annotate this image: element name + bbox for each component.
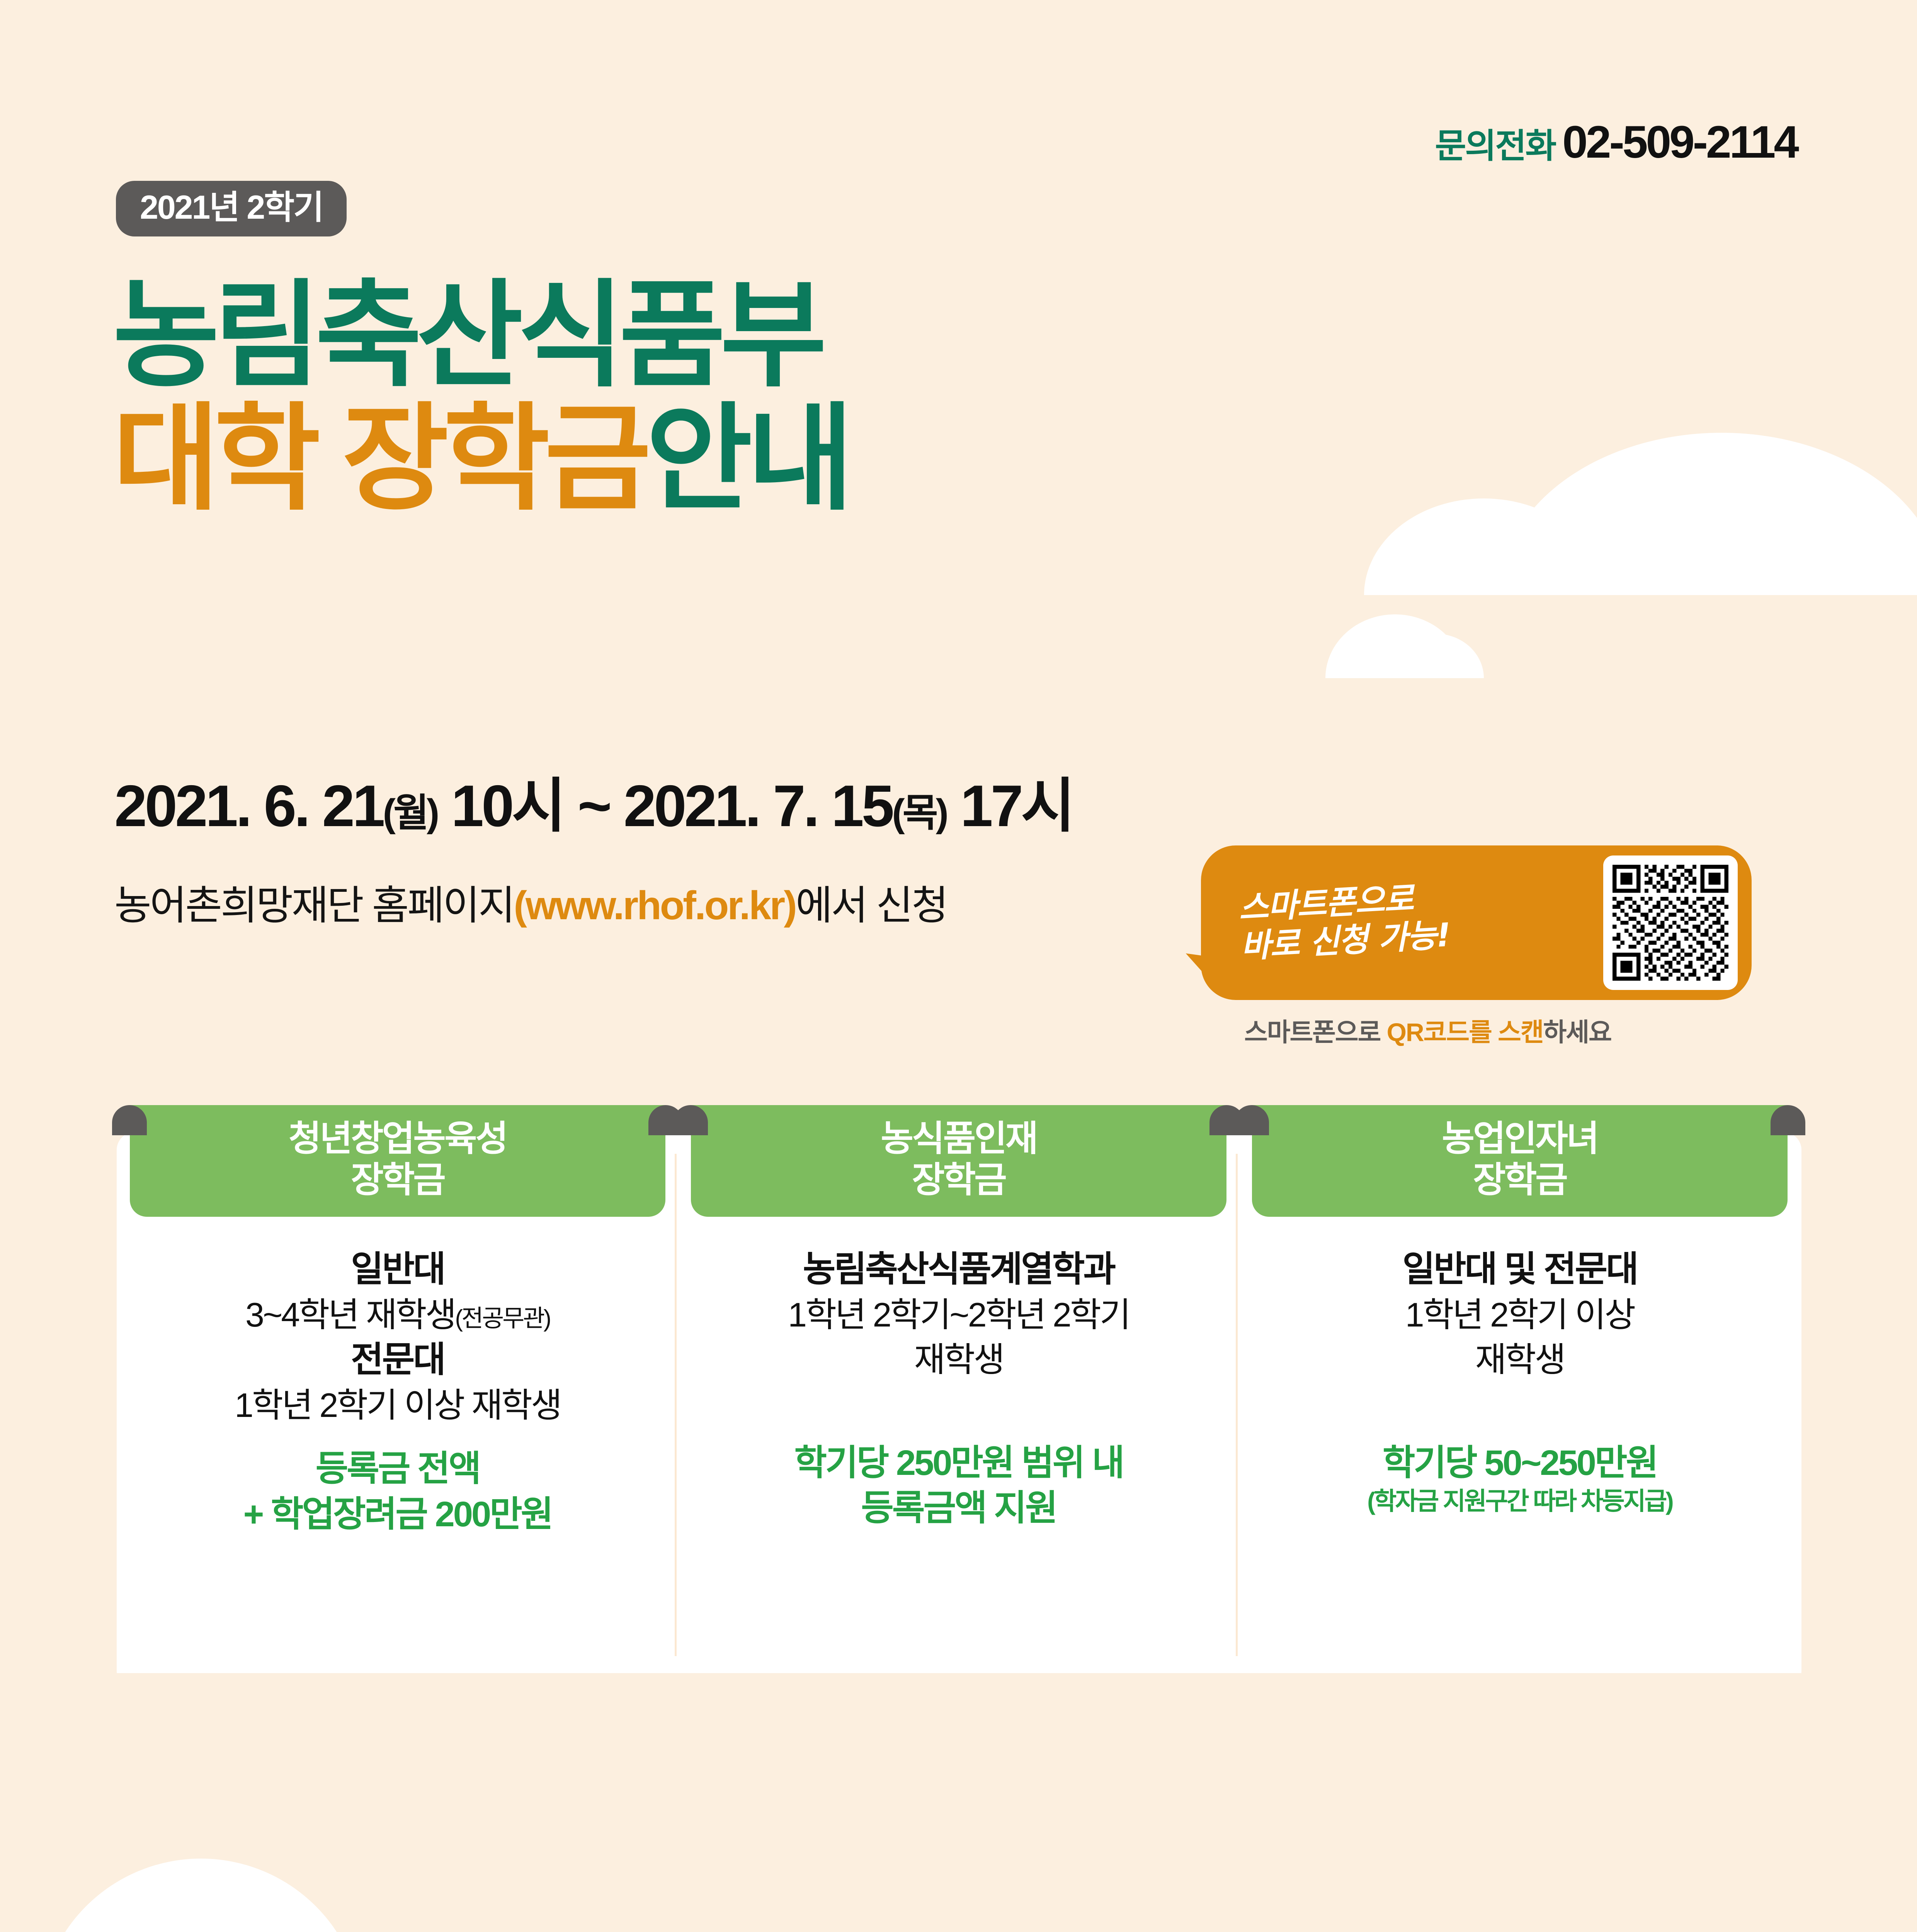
scholarship-1-amount-line-0: 등록금 전액 <box>130 1446 665 1492</box>
pin-icon <box>673 1105 708 1135</box>
period-end-date: 2021. 7. 15 <box>624 773 892 839</box>
scholarship-card-3[interactable]: 농업인자녀 장학금 일반대 및 전문대 1학년 2학기 이상 재학생 학기당 5… <box>1252 1132 1788 1689</box>
qr-section: 스마트폰으로 바로 신청 가능! <box>1201 845 1808 1000</box>
sun-shape <box>39 1859 363 1932</box>
scholarship-1-title-line-2: 장학금 <box>351 1160 444 1200</box>
scholarship-2-elig-0: 농림축산식품계열학과 <box>691 1247 1226 1293</box>
apply-site-url[interactable]: (www.rhof.or.kr) <box>514 883 796 928</box>
qr-speech-bubble: 스마트폰으로 바로 신청 가능! <box>1201 845 1752 1000</box>
scholarship-1-elig-2: 전문대 <box>130 1337 665 1383</box>
scholarship-2-elig-2: 재학생 <box>691 1337 1226 1382</box>
page-title: 농림축산식품부 대학 장학금안내 <box>113 278 848 516</box>
scholarship-card-2-body: 농림축산식품계열학과 1학년 2학기~2학년 2학기 재학생 학기당 250만원… <box>691 1217 1226 1531</box>
pin-icon <box>112 1105 147 1135</box>
apply-site-prefix: 농어촌희망재단 홈페이지 <box>114 883 514 928</box>
scholarship-3-elig-1: 1학년 2학기 이상 <box>1252 1293 1788 1337</box>
page-title-green: 안내 <box>646 394 848 524</box>
scholarship-3-elig-2: 재학생 <box>1252 1337 1788 1382</box>
scholarship-3-amount-note: (학자금 지원구간 따라 차등지급) <box>1252 1486 1788 1517</box>
qr-bubble-text: 스마트폰으로 바로 신청 가능! <box>1199 878 1451 968</box>
period-start-time: 10시 <box>451 773 564 839</box>
farm-illustration: 농림축산식품부 HOPE KRA와 함께하는 <box>0 1673 1917 1932</box>
pin-icon <box>1771 1105 1805 1135</box>
qr-code[interactable] <box>1603 855 1738 990</box>
illustration-svg <box>0 1673 1917 1932</box>
scholarship-2-title-line-2: 장학금 <box>912 1160 1005 1200</box>
scholarship-card-3-body: 일반대 및 전문대 1학년 2학기 이상 재학생 학기당 50~250만원 (학… <box>1252 1217 1788 1517</box>
scholarship-card-3-header: 농업인자녀 장학금 <box>1252 1105 1788 1217</box>
scholarship-1-elig-1: 3~4학년 재학생(전공무관) <box>130 1293 665 1337</box>
scholarship-2-title-line-1: 농식품인재 <box>881 1119 1036 1158</box>
period-end-time: 17시 <box>960 773 1073 839</box>
period-start-day: (월) <box>383 791 437 835</box>
qr-caption-post: 하세요 <box>1543 1018 1611 1046</box>
contact-phone: 문의전화 02-509-2114 <box>1435 116 1797 168</box>
scholarship-2-elig-1: 1학년 2학기~2학년 2학기 <box>691 1293 1226 1337</box>
qr-caption-highlight: QR코드를 스캔 <box>1387 1018 1543 1046</box>
period-start-date: 2021. 6. 21 <box>114 773 383 839</box>
scholarship-2-amount-line-0: 학기당 250만원 범위 내 <box>691 1440 1226 1486</box>
scholarship-3-elig-0: 일반대 및 전문대 <box>1252 1247 1788 1293</box>
semester-badge: 2021년 2학기 <box>116 181 347 236</box>
period-end-day: (목) <box>892 791 946 835</box>
scholarship-1-elig-0: 일반대 <box>130 1247 665 1293</box>
scholarship-1-amount: 등록금 전액 + 학업장려금 200만원 <box>130 1446 665 1537</box>
qr-caption-pre: 스마트폰으로 <box>1244 1018 1387 1046</box>
apply-site-suffix: 에서 신청 <box>796 883 947 928</box>
scholarship-3-amount-line-0: 학기당 50~250만원 <box>1252 1440 1788 1486</box>
pin-icon <box>1234 1105 1269 1135</box>
scholarship-card-2-header: 농식품인재 장학금 <box>691 1105 1226 1217</box>
scholarship-1-amount-line-1: + 학업장려금 200만원 <box>130 1492 665 1537</box>
application-period: 2021. 6. 21(월) 10시 ~ 2021. 7. 15(목) 17시 <box>114 758 1073 843</box>
card-divider-1 <box>675 1154 677 1656</box>
scholarship-1-elig-1-text: 3~4학년 재학생 <box>245 1296 455 1334</box>
contact-phone-number: 02-509-2114 <box>1562 116 1797 168</box>
period-separator: ~ <box>578 773 610 839</box>
qr-code-svg <box>1613 865 1728 981</box>
scholarship-card-2[interactable]: 농식품인재 장학금 농림축산식품계열학과 1학년 2학기~2학년 2학기 재학생… <box>691 1132 1226 1689</box>
scholarship-1-elig-3: 1학년 2학기 이상 재학생 <box>130 1383 665 1428</box>
scholarship-3-title-line-2: 장학금 <box>1473 1160 1567 1200</box>
scholarship-card-1[interactable]: 청년창업농육성 장학금 일반대 3~4학년 재학생(전공무관) 전문대 1학년 … <box>130 1132 665 1689</box>
scholarship-3-title-line-1: 농업인자녀 <box>1442 1119 1597 1158</box>
scholarship-1-title-line-1: 청년창업농육성 <box>289 1119 507 1158</box>
poster-root: 문의전화 02-509-2114 2021년 2학기 농림축산식품부 대학 장학… <box>0 0 1917 1932</box>
scholarship-card-panel: 청년창업농육성 장학금 일반대 3~4학년 재학생(전공무관) 전문대 1학년 … <box>117 1132 1801 1689</box>
scholarship-card-1-header: 청년창업농육성 장학금 <box>130 1105 665 1217</box>
contact-phone-label: 문의전화 <box>1435 119 1555 168</box>
scholarship-card-1-body: 일반대 3~4학년 재학생(전공무관) 전문대 1학년 2학기 이상 재학생 등… <box>130 1217 665 1537</box>
page-title-orange: 대학 장학금 <box>113 394 646 524</box>
page-title-line-1: 농림축산식품부 <box>113 278 848 393</box>
scholarship-2-amount-line-1: 등록금액 지원 <box>691 1486 1226 1531</box>
page-title-line-2: 대학 장학금안내 <box>113 401 848 516</box>
scholarship-1-elig-1-suffix: (전공무관) <box>455 1305 550 1332</box>
scholarship-3-amount: 학기당 50~250만원 (학자금 지원구간 따라 차등지급) <box>1252 1440 1788 1518</box>
scholarship-2-amount: 학기당 250만원 범위 내 등록금액 지원 <box>691 1440 1226 1532</box>
qr-caption: 스마트폰으로 QR코드를 스캔하세요 <box>1244 1012 1611 1049</box>
apply-site-line: 농어촌희망재단 홈페이지(www.rhof.or.kr)에서 신청 <box>114 872 947 931</box>
card-divider-2 <box>1236 1154 1238 1656</box>
